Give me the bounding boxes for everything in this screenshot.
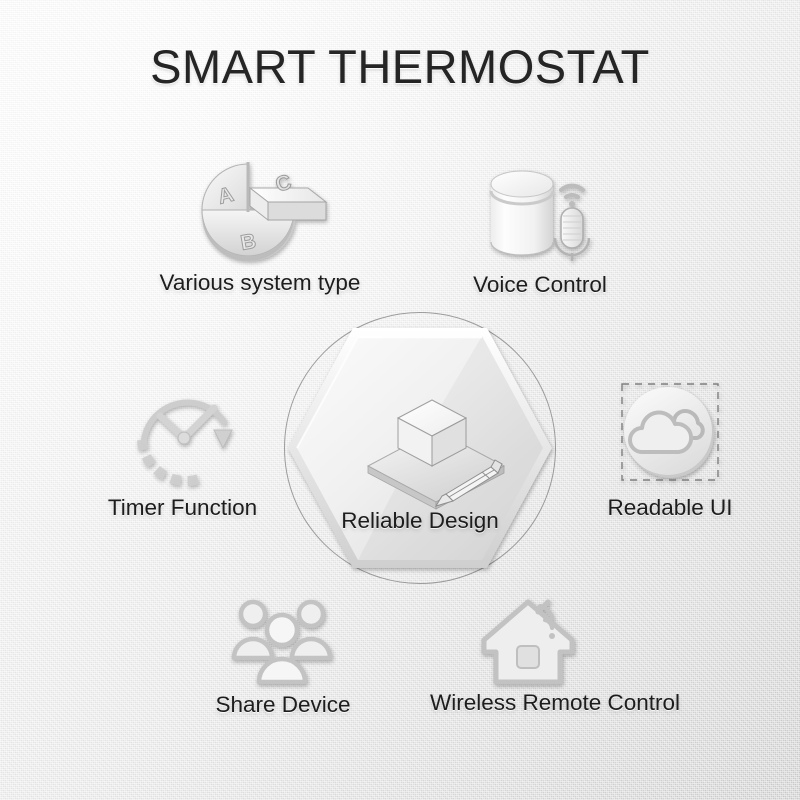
clock-dashed-arc-arrow-icon [128,378,244,490]
center-node-reliable-design[interactable]: Reliable Design [284,312,556,584]
feature-label: Readable UI [607,495,732,521]
feature-label: Timer Function [108,495,257,521]
feature-readable-ui[interactable]: Readable UI [580,376,760,526]
clouds-in-circle-crop-frame-icon [608,376,732,492]
house-with-wifi-antenna-icon [470,588,592,692]
page-title: SMART THERMOSTAT [0,42,800,91]
feature-timer-function[interactable]: Timer Function [85,378,280,528]
feature-various-system-type[interactable]: A B C Various system type [130,158,390,303]
feature-wireless-remote-control[interactable]: Wireless Remote Control [420,588,690,728]
group-of-people-icon [227,592,339,688]
smart-speaker-microphone-icon [473,160,599,272]
feature-voice-control[interactable]: Voice Control [440,160,640,305]
center-label: Reliable Design [284,508,556,534]
feature-label: Share Device [215,692,350,718]
infographic-canvas: SMART THERMOSTAT [0,0,800,800]
feature-label: Voice Control [473,272,607,298]
feature-label: Various system type [160,270,361,296]
pie-chart-exploded-icon: A B C [190,158,330,276]
feature-label: Wireless Remote Control [430,690,680,716]
feature-share-device[interactable]: Share Device [188,592,378,732]
